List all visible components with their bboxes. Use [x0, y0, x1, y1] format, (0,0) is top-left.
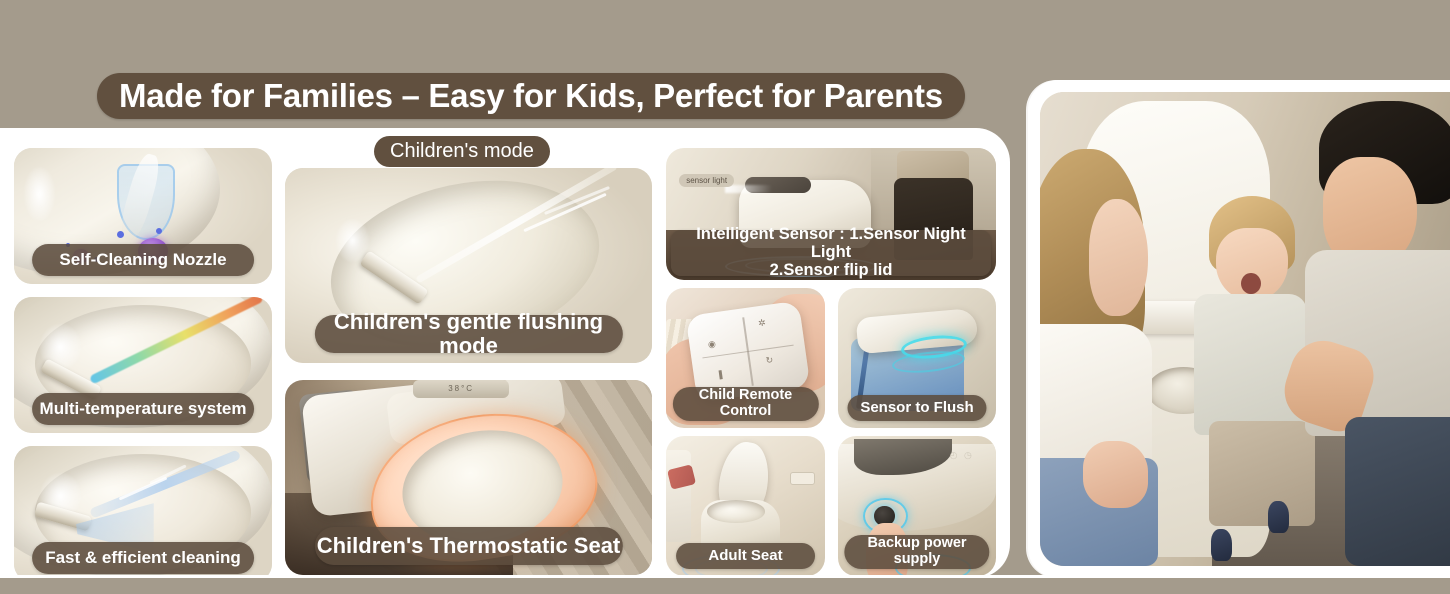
- card-caption: Child Remote Control: [672, 387, 818, 421]
- page-title: Made for Families – Easy for Kids, Perfe…: [97, 73, 965, 119]
- family-photo-panel: [1028, 80, 1450, 578]
- card-caption: Adult Seat: [676, 543, 816, 569]
- card-caption: Fast & efficient cleaning: [32, 542, 254, 574]
- card-caption: Sensor to Flush: [847, 395, 986, 421]
- card-multi-temperature-system[interactable]: Multi-temperature system: [14, 297, 272, 433]
- card-caption: Multi-temperature system: [32, 393, 254, 425]
- card-intelligent-sensor[interactable]: sensor light Intelligent Sensor : 1.Sens…: [666, 148, 996, 280]
- card-caption: Backup power supply: [844, 535, 989, 569]
- card-backup-power-supply[interactable]: ◴ ◷ Backup power supply: [838, 436, 996, 576]
- father-figure: [1294, 101, 1450, 566]
- card-self-cleaning-nozzle[interactable]: Self-Cleaning Nozzle: [14, 148, 272, 284]
- card-sensor-to-flush[interactable]: Sensor to Flush: [838, 288, 996, 428]
- mother-figure: [1040, 149, 1188, 566]
- card-fast-efficient-cleaning[interactable]: Fast & efficient cleaning: [14, 446, 272, 582]
- card-caption: Intelligent Sensor : 1.Sensor Night Ligh…: [671, 230, 991, 276]
- card-gentle-flushing-mode[interactable]: Children's gentle flushing mode: [285, 168, 652, 363]
- children-mode-badge: Children's mode: [374, 136, 550, 167]
- card-adult-seat[interactable]: Adult Seat: [666, 436, 825, 576]
- sensor-light-tag: sensor light: [679, 174, 734, 187]
- card-child-remote-control[interactable]: ✲ ◉ ↻ ❚ Child Remote Control: [666, 288, 825, 428]
- seat-temperature-readout: 38°C: [413, 380, 508, 398]
- card-caption: Self-Cleaning Nozzle: [32, 244, 254, 276]
- card-thermostatic-seat[interactable]: 38°C Children's Thermostatic Seat: [285, 380, 652, 575]
- family-photo: [1040, 92, 1450, 566]
- card-caption: Children's gentle flushing mode: [314, 315, 622, 353]
- card-caption: Children's Thermostatic Seat: [314, 527, 622, 565]
- bottom-background-band: [0, 578, 1450, 594]
